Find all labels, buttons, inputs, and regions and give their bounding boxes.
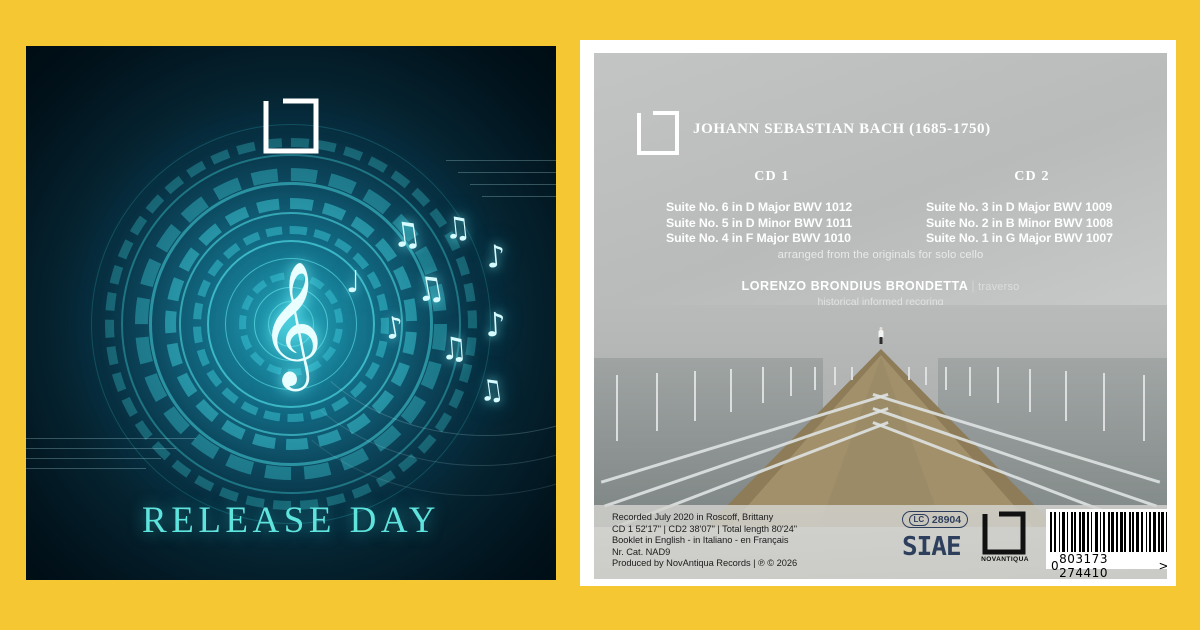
railing-post (730, 369, 732, 412)
music-note-icon: ♫ (443, 213, 473, 246)
railing-post (834, 367, 836, 385)
barcode-left-digit: 0 (1051, 559, 1059, 573)
track-item: Suite No. 1 in G Major BWV 1007 (912, 231, 1152, 247)
composer-name: JOHANN SEBASTIAN BACH (1685-1750) (693, 121, 991, 138)
railing-post (790, 367, 792, 396)
credit-line: Produced by NovAntiqua Records | ℗ © 202… (612, 558, 797, 570)
credit-line: Booklet in English - in Italiano - en Fr… (612, 535, 797, 547)
performer-name: LORENZO BRONDIUS BRONDETTA (742, 279, 969, 293)
novantiqua-bracket-logo-icon (636, 110, 680, 156)
railing-post (694, 371, 696, 421)
performer-separator: | (968, 279, 978, 293)
music-note-icon: ♫ (389, 216, 424, 254)
music-note-icon: ♫ (476, 374, 506, 406)
lc-code-badge: LC 28904 (902, 511, 968, 528)
novantiqua-bracket-logo-icon (263, 98, 319, 154)
barcode-right-marker: > (1158, 559, 1167, 573)
music-note-icon: ♩ (346, 268, 360, 298)
staff-line (26, 468, 146, 469)
barcode-digits: 0 803173 274410 > (1050, 552, 1167, 579)
poster-canvas: 𝄞 ♩ ♫ ♫ ♫ ♪ ♪ ♫ ♪ ♫ RELEASE DAY JOHANN S… (0, 0, 1200, 630)
railing-post (851, 367, 853, 380)
treble-clef-icon: 𝄞 (259, 270, 323, 378)
track-item: Suite No. 6 in D Major BWV 1012 (652, 200, 892, 216)
ean-barcode: 0 803173 274410 > (1046, 509, 1167, 569)
railing-post (945, 367, 947, 390)
credit-line: Recorded July 2020 in Roscoff, Brittany (612, 512, 797, 524)
walking-person (878, 327, 883, 344)
siae-logo: SIAE (902, 532, 961, 562)
barcode-bars (1050, 512, 1167, 552)
performer-credit: LORENZO BRONDIUS BRONDETTA|traverso (594, 279, 1167, 293)
label-name: NOVANTIQUA (974, 556, 1036, 563)
railing-post (969, 367, 971, 396)
disc-label: CD 2 (912, 169, 1152, 185)
railing-post (616, 375, 618, 441)
barcode-main-digits: 803173 274410 (1059, 552, 1158, 579)
music-note-icon: ♪ (484, 307, 507, 341)
railing-post (1103, 373, 1105, 431)
lc-number: 28904 (932, 514, 961, 526)
disc-column-cd2: CD 2 Suite No. 3 in D Major BWV 1009 Sui… (912, 169, 1152, 247)
album-title: RELEASE DAY (26, 499, 556, 542)
track-item: Suite No. 4 in F Major BWV 1010 (652, 231, 892, 247)
disc-column-cd1: CD 1 Suite No. 6 in D Major BWV 1012 Sui… (652, 169, 892, 247)
railing-post (1143, 375, 1145, 441)
credit-line: Nr. Cat. NAD9 (612, 547, 797, 559)
lc-prefix: LC (909, 514, 929, 526)
disc-label: CD 1 (652, 169, 892, 185)
arrangement-note: arranged from the originals for solo cel… (594, 249, 1167, 261)
staff-line (26, 438, 196, 439)
music-note-icon: ♫ (412, 270, 447, 308)
album-cover-art: 𝄞 ♩ ♫ ♫ ♫ ♪ ♪ ♫ ♪ ♫ RELEASE DAY (26, 46, 556, 580)
pier-walkway-photo (594, 305, 1167, 527)
credit-text-block: Recorded July 2020 in Roscoff, Brittany … (612, 512, 797, 570)
track-item: Suite No. 2 in B Minor BWV 1008 (912, 216, 1152, 232)
staff-line (26, 448, 176, 449)
railing-post (908, 367, 910, 380)
railing-post (762, 367, 764, 403)
railing-post (925, 367, 927, 385)
instrument-name: traverso (978, 281, 1019, 293)
music-note-icon: ♫ (439, 333, 469, 366)
railing-post (656, 373, 658, 431)
novantiqua-bracket-logo-icon (982, 511, 1026, 555)
railing-post (814, 367, 816, 390)
credit-line: CD 1 52'17" | CD2 38'07" | Total length … (612, 524, 797, 536)
staff-line (26, 458, 161, 459)
credits-strip: Recorded July 2020 in Roscoff, Brittany … (594, 505, 1167, 579)
railing-post (997, 367, 999, 403)
back-cover-panel: JOHANN SEBASTIAN BACH (1685-1750) CD 1 S… (580, 40, 1176, 586)
music-note-icon: ♪ (485, 241, 507, 274)
railing-post (1065, 371, 1067, 421)
track-item: Suite No. 5 in D Minor BWV 1011 (652, 216, 892, 232)
track-item: Suite No. 3 in D Major BWV 1009 (912, 200, 1152, 216)
railing-post (1029, 369, 1031, 412)
